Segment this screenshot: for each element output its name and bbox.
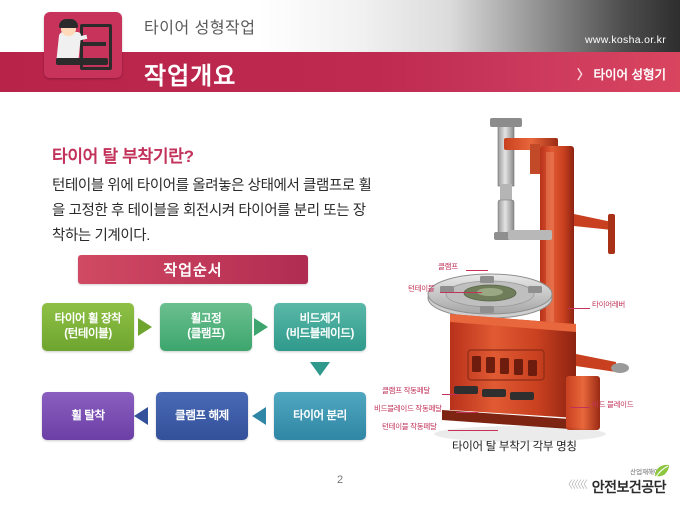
flow-step-6: 휠 탈착 (42, 392, 134, 440)
leader-line-table-pedal (448, 430, 498, 431)
header-section-text: 타이어 성형기 (594, 68, 666, 82)
flow-step-6-line1: 휠 탈착 (71, 409, 104, 424)
label-bead-blade-pedal: 비드블레이드 작동페달 (374, 403, 442, 414)
label-turntable: 턴테이블 (408, 283, 434, 294)
leader-line-turntable (440, 292, 482, 293)
leader-line-tirelever (568, 308, 590, 309)
page-title: 작업개요 (144, 56, 236, 91)
leader-line-blade-pedal (456, 412, 478, 413)
work-order-banner: 작업순서 (78, 255, 308, 284)
label-clamp-pedal: 클램프 작동페달 (382, 385, 430, 396)
header-url: www.kosha.or.kr (585, 34, 666, 46)
flow-step-3-line2: (비드블레이드) (286, 327, 354, 342)
flow-step-4-line1: 타이어 분리 (293, 409, 347, 424)
flow-step-5: 클램프 해제 (156, 392, 248, 440)
flow-step-1-line2: (턴테이블) (64, 327, 112, 342)
leader-line-clamp (466, 270, 488, 271)
chevron-left-decor-icon: 〈〈〈〈〈〈 (563, 476, 586, 491)
arrow-right-icon-2 (254, 318, 268, 336)
page-header: 타이어 성형작업 작업개요 www.kosha.or.kr 〉타이어 성형기 (0, 0, 680, 104)
lead-body: 턴테이블 위에 타이어를 올려놓은 상태에서 클램프로 휠을 고정한 후 테이블… (52, 174, 372, 249)
kosha-logo: 〈〈〈〈〈〈 산업재해예방 안전보건공단 (563, 468, 666, 498)
header-subtitle: 타이어 성형작업 (144, 14, 256, 38)
flow-step-1: 타이어 휠 장착 (턴테이블) (42, 303, 134, 351)
flow-step-1-line1: 타이어 휠 장착 (55, 312, 122, 327)
work-order-banner-label: 작업순서 (163, 259, 222, 280)
flow-step-2: 휠고정 (클램프) (160, 303, 252, 351)
flow-step-2-line1: 휠고정 (191, 312, 222, 327)
flow-step-3-line1: 비드제거 (300, 312, 341, 327)
machine-bar-shape (80, 42, 106, 46)
worker-helmet-shape (59, 19, 78, 28)
lead-title: 타이어 탈 부착기란? (52, 142, 194, 167)
worker-machine-icon (44, 12, 122, 78)
flow-step-4: 타이어 분리 (274, 392, 366, 440)
flow-step-3: 비드제거 (비드블레이드) (274, 303, 366, 351)
illustration-caption: 타이어 탈 부착기 각부 명칭 (452, 438, 577, 454)
label-turntable-pedal: 턴테이블 작동페달 (382, 421, 437, 432)
arrow-left-icon-1 (252, 407, 266, 425)
tire-changer-illustration: 클램프 턴테이블 타이어레버 클램프 작동페달 비드블레이드 작동페달 턴테이블… (380, 118, 670, 448)
arrow-left-icon-2 (134, 407, 148, 425)
machine-base-shape (56, 58, 108, 65)
header-white-strip (0, 92, 680, 104)
label-tire-lever: 타이어레버 (592, 299, 625, 310)
kosha-leaf-icon (652, 462, 672, 482)
label-bead-blade: 비드 블레이드 (592, 399, 633, 410)
arrow-right-icon-1 (138, 318, 152, 336)
leader-line-bead-blade (570, 407, 590, 408)
chevron-right-icon: 〉 (577, 64, 590, 83)
leader-line-clamp-pedal (442, 394, 458, 395)
arrow-down-icon (310, 362, 330, 376)
flow-step-2-line2: (클램프) (187, 327, 224, 342)
flow-step-5-line1: 클램프 해제 (175, 409, 229, 424)
label-clamp: 클램프 (438, 261, 458, 272)
header-section-label: 〉타이어 성형기 (577, 64, 666, 83)
